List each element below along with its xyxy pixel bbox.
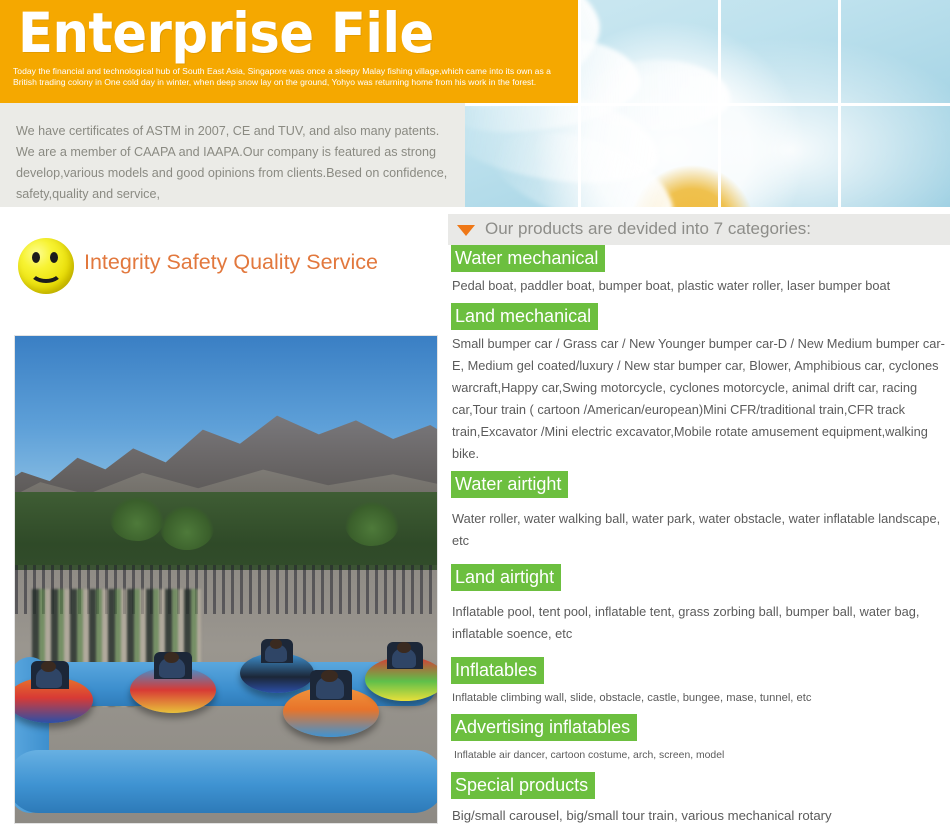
category-label: Special products [451, 772, 595, 799]
photo-pool-front-wall [14, 750, 438, 813]
products-panel: Our products are devided into 7 categori… [448, 214, 950, 835]
boat-rider-head [321, 670, 337, 682]
product-category-list: Water mechanical Pedal boat, paddler boa… [448, 245, 950, 827]
certificates-text: We have certificates of ASTM in 2007, CE… [16, 121, 460, 205]
tagline-text: Integrity Safety Quality Service [84, 250, 378, 275]
title-banner: Enterprise File Today the financial and … [0, 0, 578, 103]
banner-subtitle: Today the financial and technological hu… [13, 66, 569, 89]
boat-rider-head [164, 652, 179, 663]
page-title: Enterprise File [18, 0, 434, 68]
certificates-block: We have certificates of ASTM in 2007, CE… [0, 103, 465, 207]
boat-rider-head [397, 642, 411, 653]
photo-palm-tree [345, 502, 399, 546]
category-description: Big/small carousel, big/small tour train… [448, 805, 950, 827]
category-land-airtight: Land airtight Inflatable pool, tent pool… [448, 564, 950, 645]
category-label: Inflatables [451, 657, 544, 684]
photo-palm-tree [110, 497, 164, 541]
category-land-mechanical: Land mechanical Small bumper car / Grass… [448, 303, 950, 465]
smiley-face-icon [18, 238, 74, 294]
bumper-boat [240, 653, 314, 693]
bumper-boat [130, 667, 216, 713]
bumper-boat [283, 687, 379, 737]
category-label: Land airtight [451, 564, 561, 591]
category-inflatables: Inflatables Inflatable climbing wall, sl… [448, 657, 950, 708]
category-water-airtight: Water airtight Water roller, water walki… [448, 471, 950, 552]
products-header: Our products are devided into 7 categori… [448, 214, 950, 245]
top-banner-region: Enterprise File Today the financial and … [0, 0, 950, 207]
category-description: Inflatable climbing wall, slide, obstacl… [448, 689, 950, 708]
enterprise-file-page: Enterprise File Today the financial and … [0, 0, 950, 835]
bumper-boat-photo [14, 335, 438, 824]
category-special-products: Special products Big/small carousel, big… [448, 772, 950, 827]
category-description: Pedal boat, paddler boat, bumper boat, p… [448, 275, 950, 297]
category-label: Water airtight [451, 471, 568, 498]
category-description: Small bumper car / Grass car / New Young… [448, 333, 950, 465]
category-label: Advertising inflatables [451, 714, 637, 741]
category-label: Water mechanical [451, 245, 605, 272]
category-advertising-inflatables: Advertising inflatables Inflatable air d… [448, 714, 950, 765]
products-header-text: Our products are devided into 7 categori… [485, 219, 811, 239]
category-description: Water roller, water walking ball, water … [448, 508, 950, 552]
category-water-mechanical: Water mechanical Pedal boat, paddler boa… [448, 245, 950, 297]
category-description: Inflatable pool, tent pool, inflatable t… [448, 601, 950, 645]
boat-rider-head [270, 639, 283, 649]
tagline-row: Integrity Safety Quality Service [0, 232, 450, 302]
category-description: Inflatable air dancer, cartoon costume, … [448, 747, 950, 765]
category-label: Land mechanical [451, 303, 598, 330]
triangle-down-icon [457, 225, 475, 236]
smiley-mouth [29, 259, 63, 283]
